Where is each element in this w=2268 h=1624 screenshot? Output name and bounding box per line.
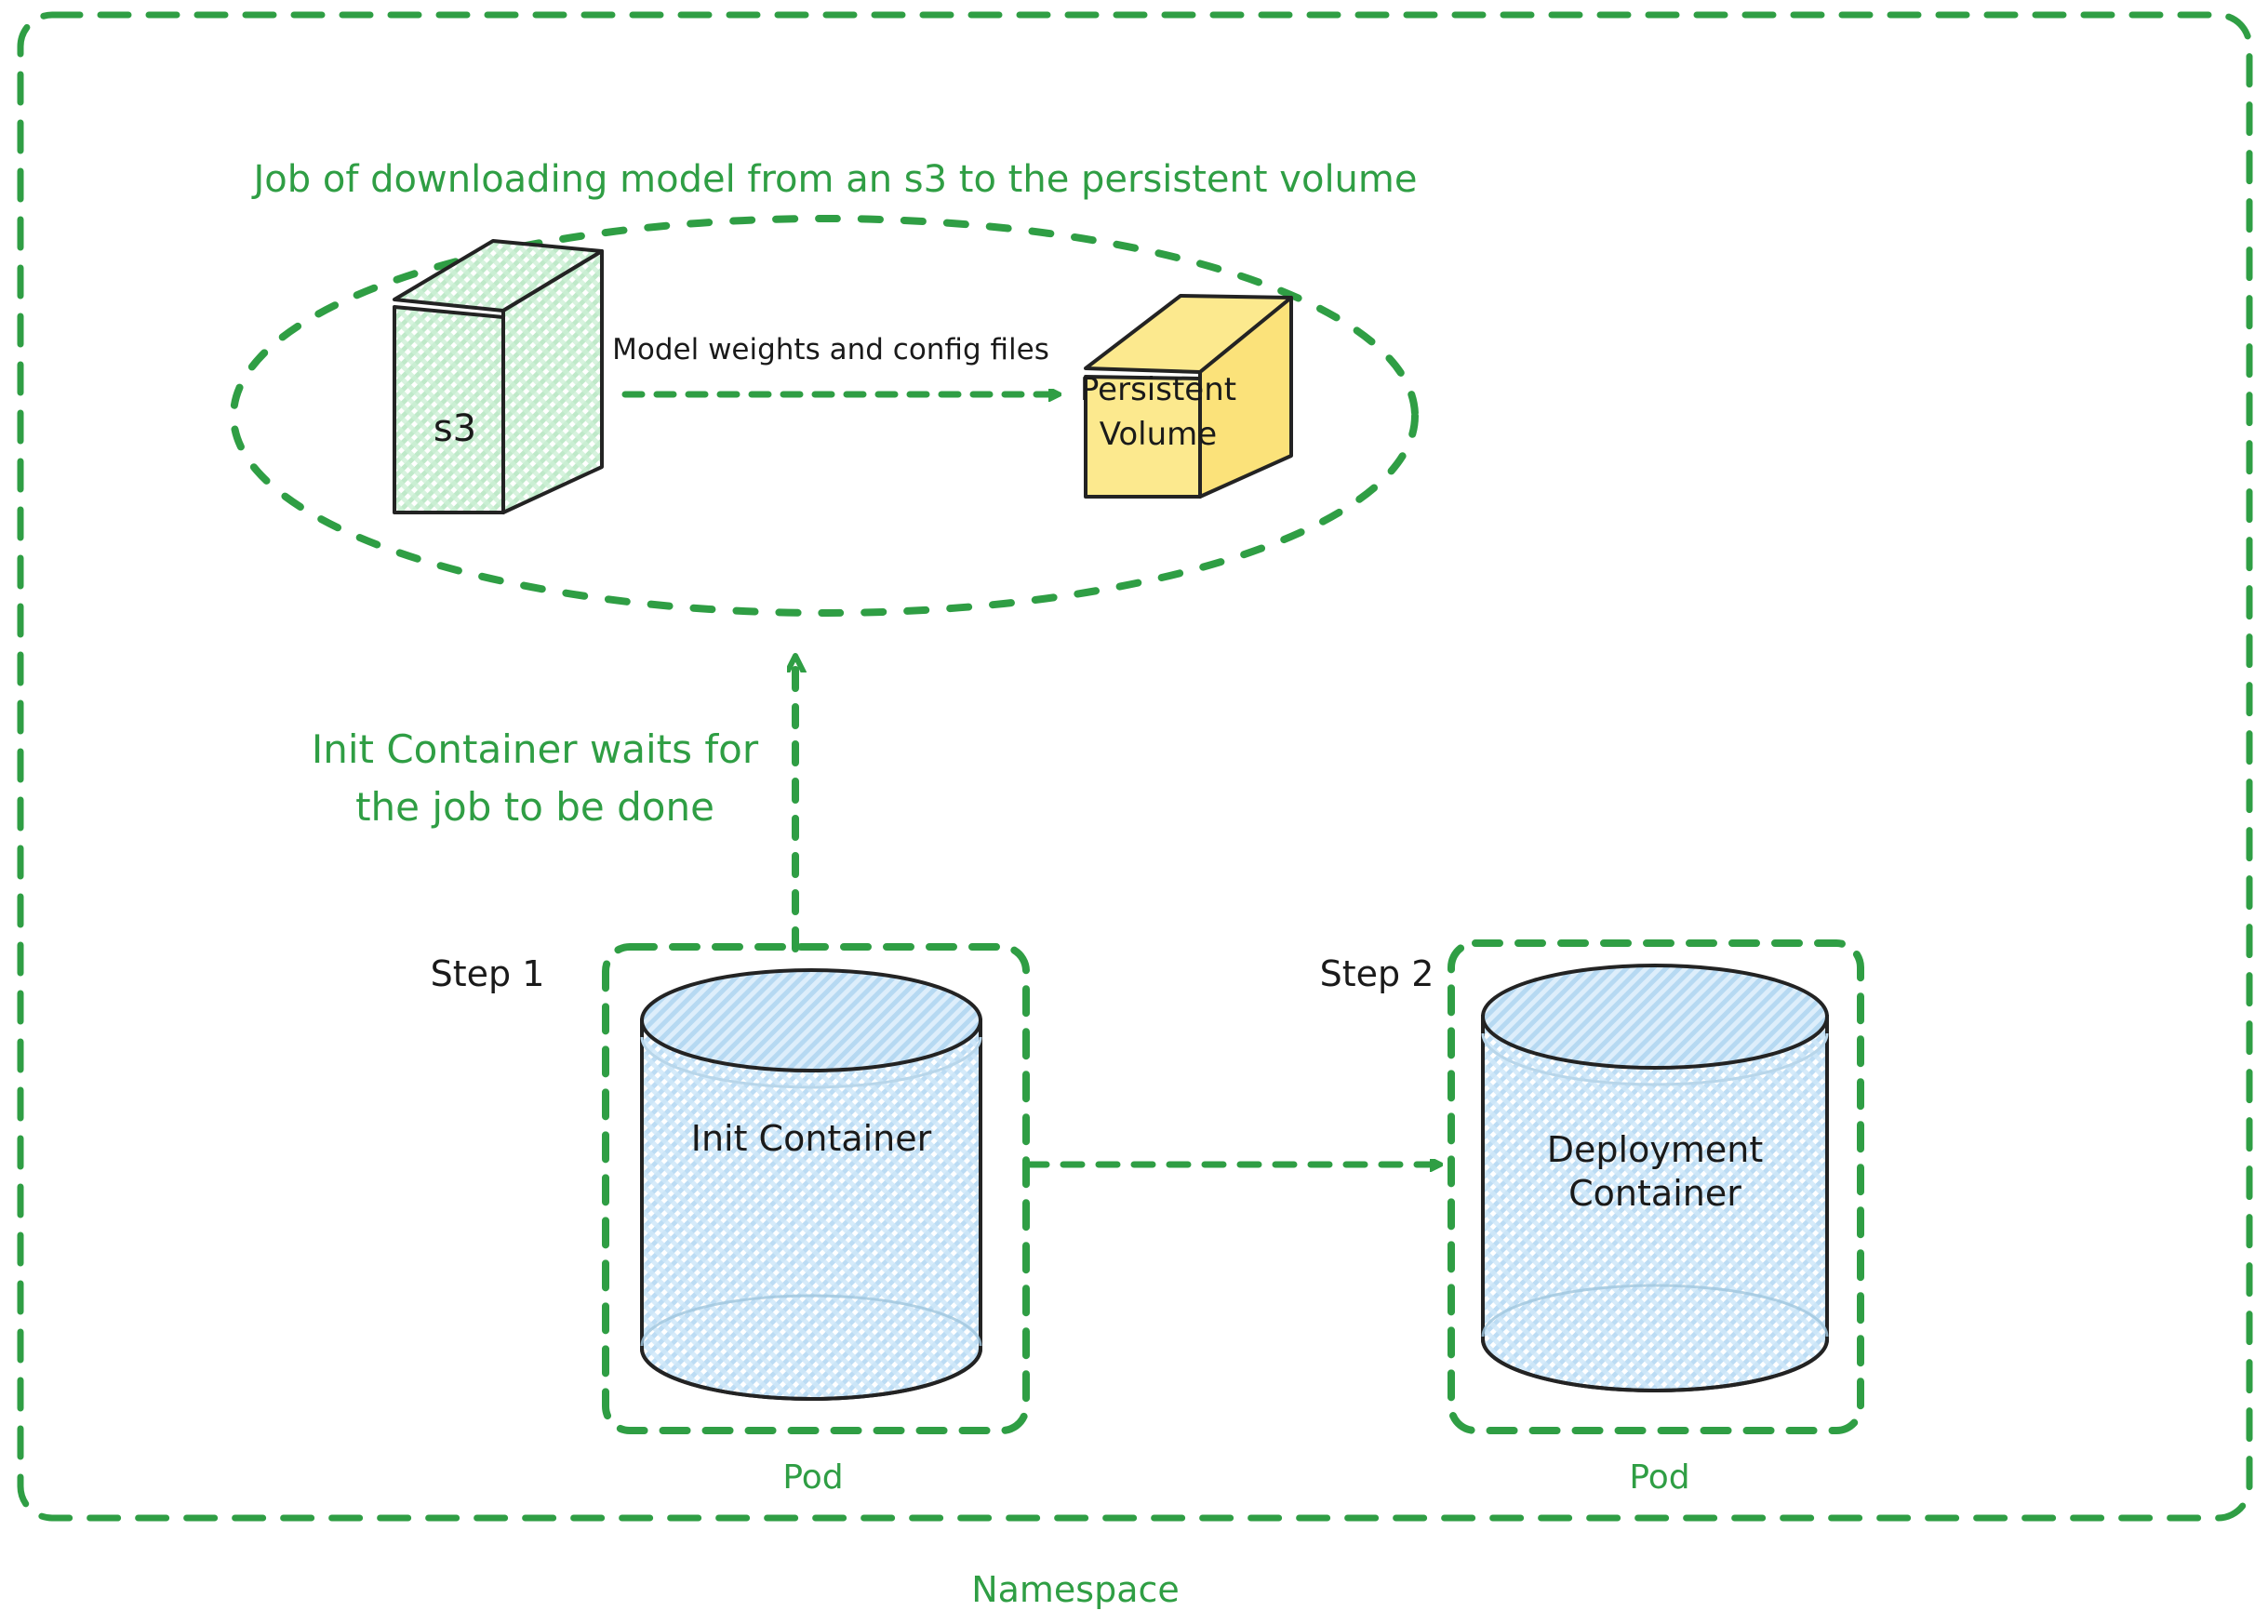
edge-init-to-job: Init Container waits for the job to be d… bbox=[312, 662, 795, 949]
persistent-volume-cube: Persistent Volume bbox=[1080, 296, 1291, 497]
diagram-canvas: s3 Persistent Volume Model weights and c… bbox=[0, 0, 2268, 1624]
deployment-container-cylinder: Deployment Container bbox=[1483, 965, 1827, 1391]
deployment-container-label-line2: Container bbox=[1568, 1173, 1741, 1214]
pod-1-step-label: Step 1 bbox=[431, 953, 545, 994]
namespace-label: Namespace bbox=[971, 1569, 1180, 1610]
edge-s3-to-persistent-volume: Model weights and config files bbox=[612, 333, 1056, 394]
s3-label: s3 bbox=[434, 407, 476, 450]
pod-init-container: Step 1 Pod Init Container bbox=[431, 947, 1026, 1497]
edge-init-to-job-label-line1: Init Container waits for bbox=[312, 726, 759, 772]
edge-init-to-job-label-line2: the job to be done bbox=[355, 784, 714, 830]
s3-cube: s3 bbox=[394, 241, 602, 512]
pod-2-step-label: Step 2 bbox=[1320, 953, 1434, 994]
diagram-svg: s3 Persistent Volume Model weights and c… bbox=[0, 0, 2268, 1624]
job-group-title: Job of downloading model from an s3 to t… bbox=[251, 158, 1418, 201]
persistent-volume-label-line2: Volume bbox=[1100, 416, 1217, 453]
persistent-volume-label-line1: Persistent bbox=[1080, 371, 1236, 408]
init-container-cylinder: Init Container bbox=[642, 970, 981, 1399]
pod-2-label: Pod bbox=[1629, 1458, 1689, 1497]
deployment-container-label-line1: Deployment bbox=[1547, 1129, 1763, 1170]
pod-deployment-container: Step 2 Pod Deployment Container bbox=[1320, 943, 1861, 1497]
init-container-label: Init Container bbox=[691, 1118, 932, 1159]
edge-s3-to-pv-label: Model weights and config files bbox=[612, 333, 1049, 366]
pod-1-label: Pod bbox=[782, 1458, 843, 1497]
